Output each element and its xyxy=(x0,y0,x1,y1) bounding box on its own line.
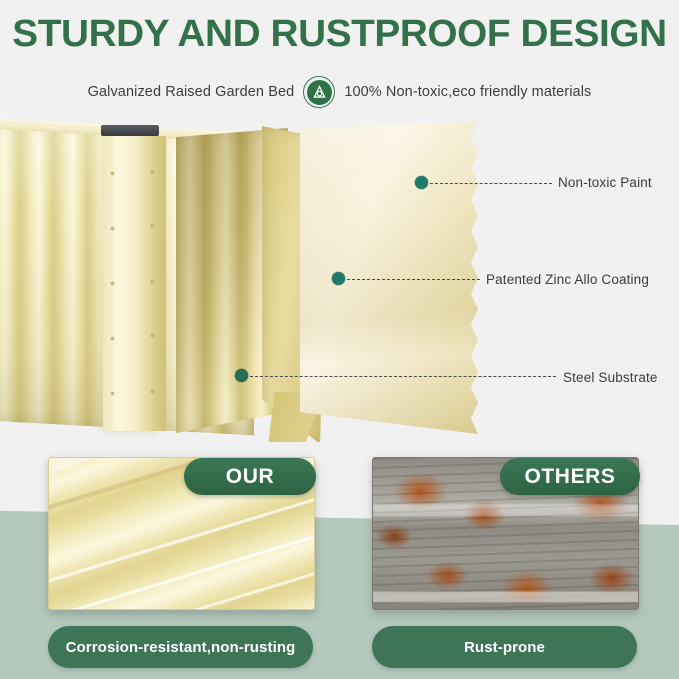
infographic-root: STURDY AND RUSTPROOF DESIGN Galvanized R… xyxy=(0,0,679,679)
callout-dot-non-toxic-paint xyxy=(415,176,428,189)
callout-dot-steel-substrate xyxy=(235,369,248,382)
callout-dot-zinc-coating xyxy=(332,272,345,285)
eco-recycle-icon-inner xyxy=(307,80,332,105)
caption-others: Rust-prone xyxy=(372,626,637,668)
screw xyxy=(151,334,154,337)
screw xyxy=(111,227,114,230)
screw xyxy=(111,392,114,395)
front-wavy-sheet-sheen xyxy=(300,122,478,434)
subtitle-left: Galvanized Raised Garden Bed xyxy=(88,84,295,100)
corner-post-side xyxy=(153,136,166,431)
badge-others: OTHERS xyxy=(500,458,640,495)
corner-post-cap xyxy=(101,125,159,136)
caption-our: Corrosion-resistant,non-rusting xyxy=(48,626,313,668)
callout-leader-steel-substrate xyxy=(250,376,556,377)
callout-label-steel-substrate: Steel Substrate xyxy=(563,370,658,385)
screw xyxy=(151,280,154,283)
badge-our: OUR xyxy=(184,458,316,495)
screw xyxy=(111,337,114,340)
callout-leader-zinc-coating xyxy=(347,279,480,280)
page-title: STURDY AND RUSTPROOF DESIGN xyxy=(0,12,679,56)
screw xyxy=(151,224,154,227)
callout-label-zinc-coating: Patented Zinc Allo Coating xyxy=(486,272,649,287)
screw xyxy=(151,390,154,393)
callout-leader-non-toxic-paint xyxy=(430,183,552,184)
subtitle-right: 100% Non-toxic,eco friendly materials xyxy=(344,84,591,100)
subtitle-row: Galvanized Raised Garden Bed 100% Non-to… xyxy=(0,76,679,108)
screw xyxy=(111,282,114,285)
screw xyxy=(111,172,114,175)
callout-label-non-toxic-paint: Non-toxic Paint xyxy=(558,175,652,190)
eco-recycle-icon xyxy=(303,76,335,108)
screw xyxy=(151,170,154,173)
